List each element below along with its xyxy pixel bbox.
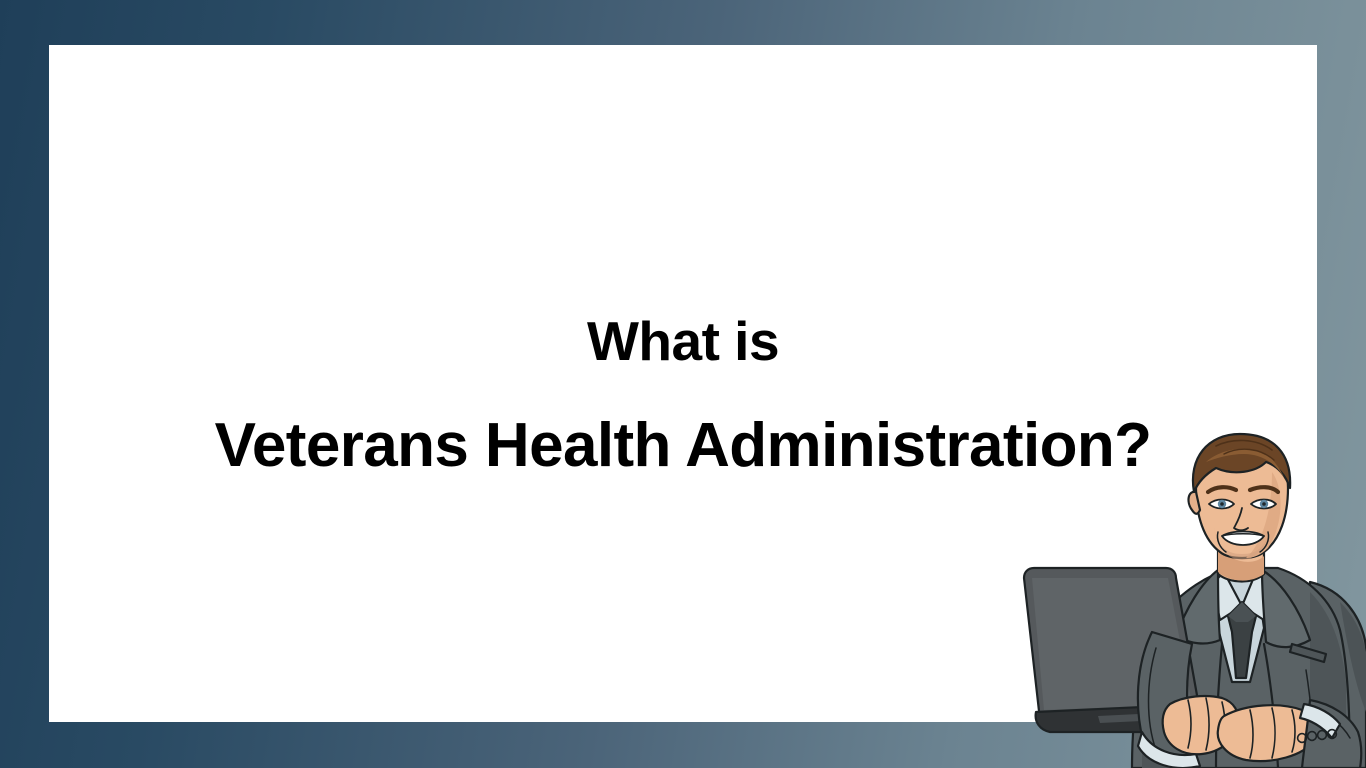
slide-canvas: What is Veterans Health Administration? [0, 0, 1366, 768]
content-card: What is Veterans Health Administration? [49, 45, 1317, 722]
title-line-1: What is [69, 313, 1297, 371]
title-line-2: Veterans Health Administration? [69, 413, 1297, 478]
page-title: What is Veterans Health Administration? [49, 313, 1317, 478]
